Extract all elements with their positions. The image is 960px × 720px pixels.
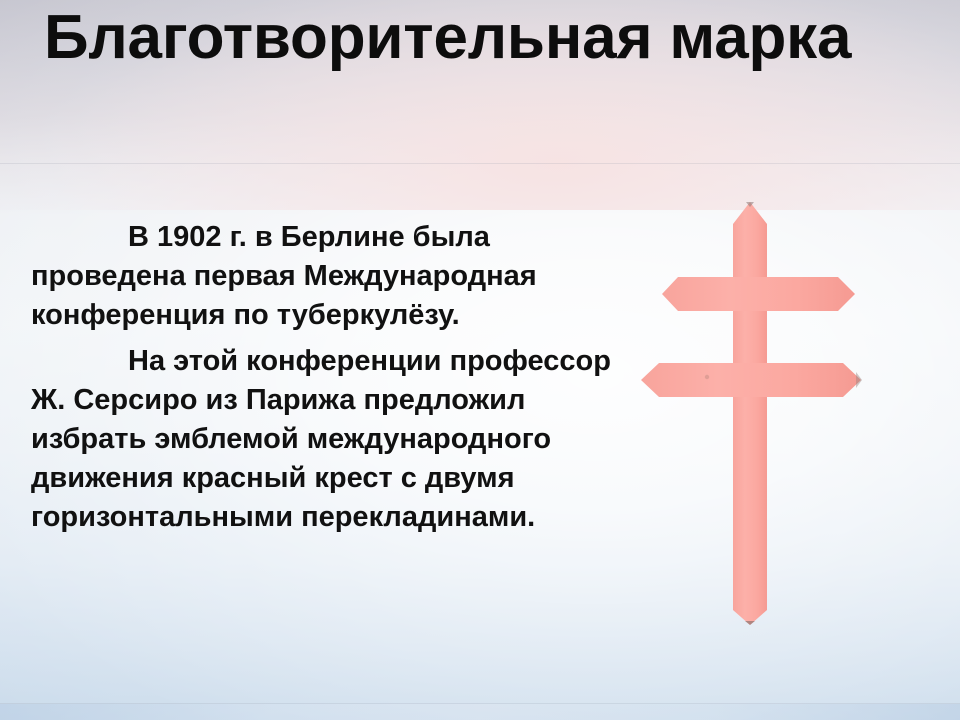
lorraine-cross-icon bbox=[624, 180, 886, 625]
slide: Благотворительная марка В 1902 г. в Берл… bbox=[0, 0, 960, 720]
slide-title: Благотворительная марка bbox=[44, 7, 924, 69]
cross-vertical-shaft bbox=[733, 202, 767, 625]
cross-upper-bar bbox=[662, 277, 855, 311]
slide-body-text: В 1902 г. в Берлине была проведена перва… bbox=[31, 218, 631, 537]
cross-lower-bar bbox=[641, 363, 861, 397]
cross-bottom-tip-mark bbox=[745, 621, 755, 625]
cross-speck bbox=[705, 375, 709, 379]
body-paragraph-2: На этой конференции профессор Ж. Серсиро… bbox=[31, 342, 631, 537]
cross-right-tip-mark bbox=[856, 372, 862, 388]
body-paragraph-1: В 1902 г. в Берлине была проведена перва… bbox=[31, 218, 631, 335]
lorraine-cross-image bbox=[624, 180, 886, 625]
background-bottom-band bbox=[0, 704, 960, 720]
background-band-seam-top bbox=[0, 163, 960, 164]
